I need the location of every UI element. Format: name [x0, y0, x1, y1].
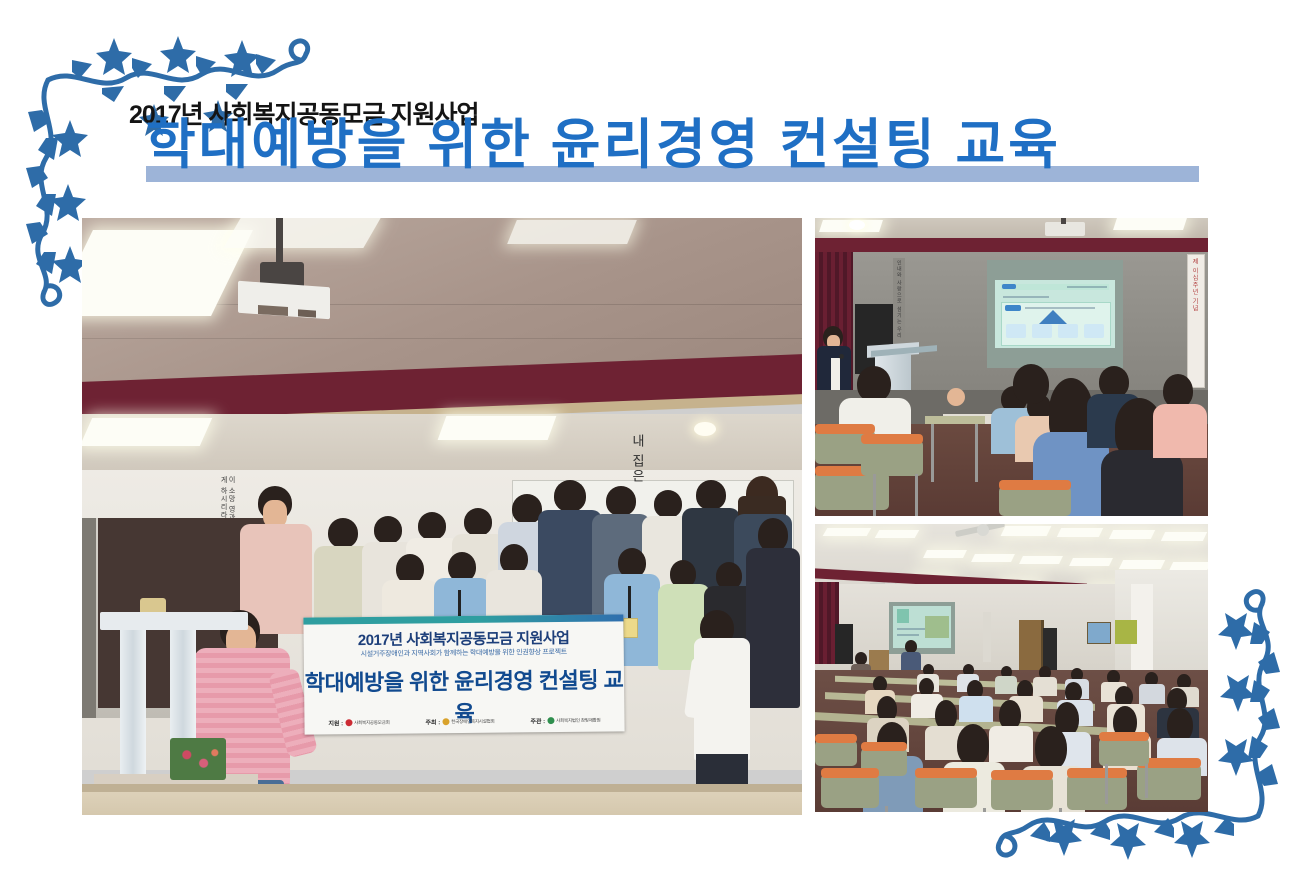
door: [1019, 620, 1043, 672]
credit-org: 한국장애인복지시설협회: [451, 718, 494, 724]
lectern: [869, 650, 889, 672]
ceiling-light: [223, 218, 380, 248]
chair: [815, 740, 857, 766]
chair: [1067, 774, 1127, 810]
page-title: 학대예방을 위한 윤리경영 컨설팅 교육: [146, 118, 1061, 172]
downlight: [694, 422, 716, 436]
banner-line-2: 시설거주장애인과 지역사회가 함께하는 학대예방을 위한 인권향상 프로젝트: [304, 646, 624, 659]
wall-calligraphy-heading: 내 집은: [628, 434, 647, 492]
side-banner-text: 제 이십주년 기념: [1190, 258, 1199, 378]
event-banner: 2017년 사회복지공동모금 지원사업 시설거주장애인과 지역사회가 함께하는 …: [303, 614, 624, 734]
credit-label: 주최 :: [425, 717, 440, 726]
projector-mount: [276, 218, 283, 266]
speaker-cabinet: [835, 624, 853, 664]
chair: [861, 440, 923, 476]
desk: [925, 416, 985, 424]
banner-credit: 주관 : 사회복지법인 참빛재활원: [530, 716, 600, 726]
chair: [915, 774, 977, 808]
group-photo-with-banner: 이 소망 영과 혼과 몸이 흠 없게 하시리라 내 집은: [82, 218, 802, 815]
podium-top: [100, 612, 248, 630]
slide-chip: [1002, 284, 1016, 289]
slide-triangle-graphic: [1039, 310, 1067, 324]
credit-label: 주관 :: [530, 716, 545, 725]
chair: [815, 472, 889, 510]
credit-label: 지원 :: [328, 718, 343, 727]
stage-front: [82, 790, 802, 815]
credit-org: 사회복지공동모금회: [354, 719, 390, 725]
framed-photo: [1087, 622, 1111, 644]
sponsor-mark-icon: [442, 718, 449, 725]
chair: [991, 776, 1053, 810]
ceiling-projector: [1045, 222, 1085, 236]
banner-credit: 주최 : 한국장애인복지시설협회: [425, 717, 494, 727]
sponsor-mark-icon: [547, 717, 554, 724]
ceiling-light: [507, 220, 637, 244]
downlight: [849, 220, 865, 230]
podium-leg: [120, 630, 146, 778]
chair: [821, 774, 879, 808]
slide-label-chip: [1005, 305, 1021, 311]
ceiling-light: [438, 416, 557, 440]
credit-org: 사회복지법인 참빛재활원: [556, 717, 600, 723]
sponsor-mark-icon: [345, 719, 352, 726]
ceiling-light: [82, 418, 212, 446]
flower-arrangement: [170, 738, 226, 780]
lecture-presenter-and-screen: 인내와 사랑으로 섬기는 우리 제 이십주년 기념: [815, 218, 1208, 516]
chair: [1099, 738, 1149, 766]
hanging-text-strip: [983, 612, 991, 662]
banner-credit: 지원 : 사회복지공동모금회: [328, 718, 389, 728]
wall-poster: [1115, 620, 1137, 644]
chair: [999, 486, 1071, 516]
lecture-hall-wide-view: [815, 524, 1208, 812]
